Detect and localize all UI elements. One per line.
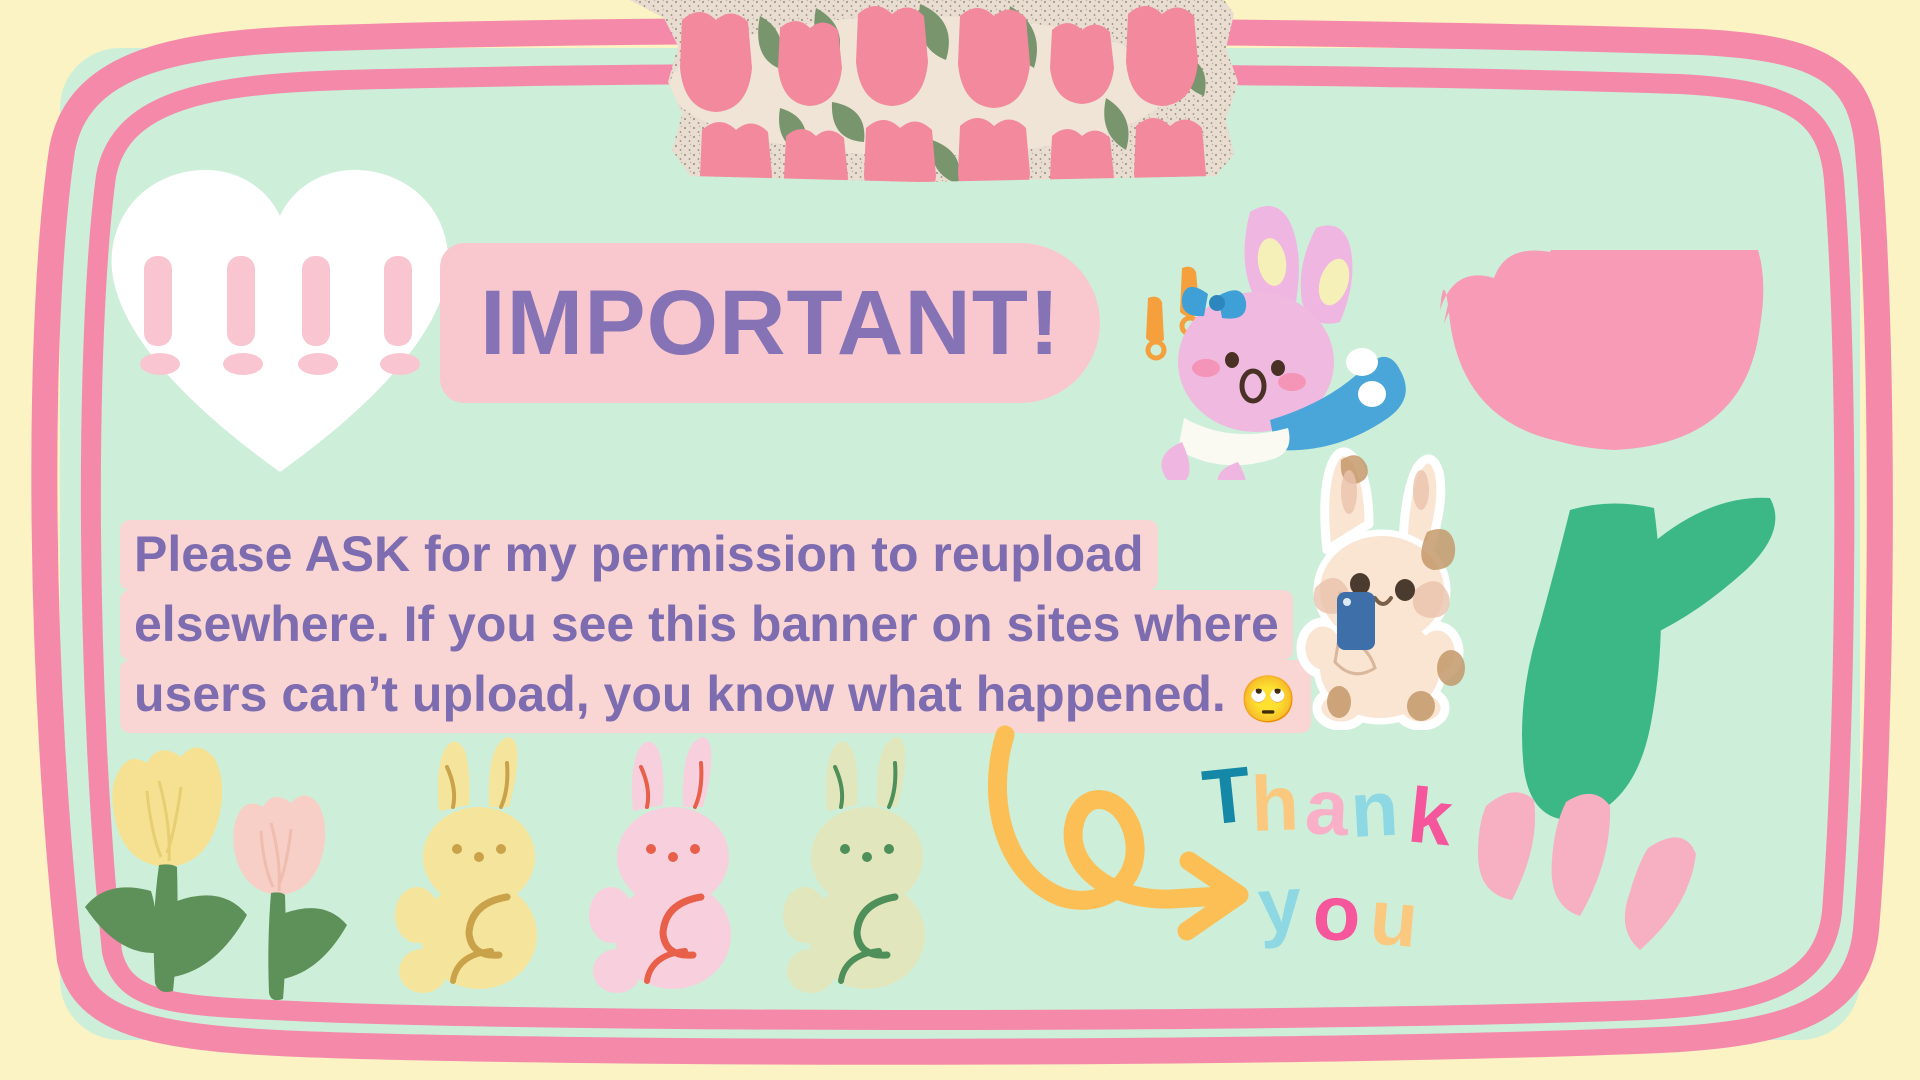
tulip-washi-tape xyxy=(620,0,1250,205)
body-line-1: Please ASK for my permission to reupload xyxy=(120,520,1158,590)
thankyou-letter-o: o xyxy=(1311,868,1362,958)
thankyou-letter-n: n xyxy=(1348,764,1400,854)
banner-canvas: IMPORTANT! Please ASK for my permission … xyxy=(0,0,1920,1080)
thankyou-letter-a: a xyxy=(1303,762,1352,852)
thankyou-letter-y: y xyxy=(1255,859,1304,950)
pink-bunny-running-sticker xyxy=(1120,190,1410,480)
small-tulips-group xyxy=(85,745,360,1005)
important-banner: IMPORTANT! xyxy=(440,243,1100,403)
thankyou-letter-h: h xyxy=(1250,758,1301,848)
bunny-figure-yellow xyxy=(395,737,537,993)
thankyou-letter-u: u xyxy=(1367,872,1422,964)
body-line-3-text: users can’t upload, you know what happen… xyxy=(134,666,1226,722)
body-line-1-wrap: Please ASK for my permission to reupload xyxy=(120,520,1150,590)
tulip-pink xyxy=(233,795,347,1000)
thank-you-lettering: T h a n k y o u xyxy=(1200,745,1530,975)
thankyou-letter-k: k xyxy=(1404,770,1457,862)
body-line-2: elsewhere. If you see this banner on sit… xyxy=(120,590,1293,660)
tulip-yellow xyxy=(85,747,247,992)
page-title: IMPORTANT! xyxy=(480,277,1061,369)
heart-with-exclamations xyxy=(100,160,460,480)
body-line-2-wrap: elsewhere. If you see this banner on sit… xyxy=(120,590,1150,660)
bunny-figure-row xyxy=(395,735,960,995)
bunny-figure-pink xyxy=(589,737,731,993)
body-text-block: Please ASK for my permission to reupload… xyxy=(120,520,1150,733)
bunny-figure-green xyxy=(783,737,925,993)
thankyou-letter-T: T xyxy=(1200,749,1255,841)
